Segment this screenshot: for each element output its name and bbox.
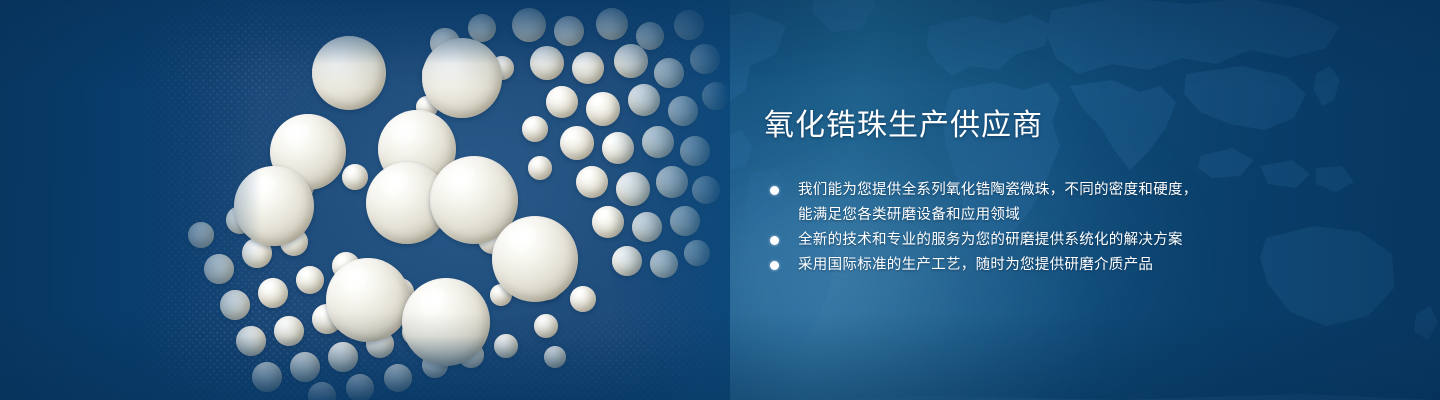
list-item-line1: 全新的技术和专业的服务为您的研磨提供系统化的解决方案 (798, 232, 1183, 248)
list-item-line2: 能满足您各类研磨设备和应用领域 (798, 203, 1384, 228)
bullet-dot-icon (770, 236, 779, 245)
list-item: 全新的技术和专业的服务为您的研磨提供系统化的解决方案 (770, 228, 1384, 253)
list-item-line1: 采用国际标准的生产工艺，随时为您提供研磨介质产品 (798, 257, 1153, 273)
bullet-dot-icon (770, 261, 779, 270)
hero-banner: 氧化锆珠生产供应商 我们能为您提供全系列氧化锆陶瓷微珠，不同的密度和硬度， 能满… (0, 0, 1440, 400)
list-item-text: 我们能为您提供全系列氧化锆陶瓷微珠，不同的密度和硬度， 能满足您各类研磨设备和应… (798, 178, 1384, 228)
banner-headline: 氧化锆珠生产供应商 (764, 108, 1384, 144)
list-item-text: 采用国际标准的生产工艺，随时为您提供研磨介质产品 (798, 253, 1384, 278)
banner-content: 氧化锆珠生产供应商 我们能为您提供全系列氧化锆陶瓷微珠，不同的密度和硬度， 能满… (764, 108, 1384, 278)
list-item-text: 全新的技术和专业的服务为您的研磨提供系统化的解决方案 (798, 228, 1384, 253)
list-item: 我们能为您提供全系列氧化锆陶瓷微珠，不同的密度和硬度， 能满足您各类研磨设备和应… (770, 178, 1384, 228)
bullet-dot-icon (770, 186, 779, 195)
list-item-line1: 我们能为您提供全系列氧化锆陶瓷微珠，不同的密度和硬度， (798, 182, 1198, 198)
feature-list: 我们能为您提供全系列氧化锆陶瓷微珠，不同的密度和硬度， 能满足您各类研磨设备和应… (770, 178, 1384, 278)
list-item: 采用国际标准的生产工艺，随时为您提供研磨介质产品 (770, 253, 1384, 278)
